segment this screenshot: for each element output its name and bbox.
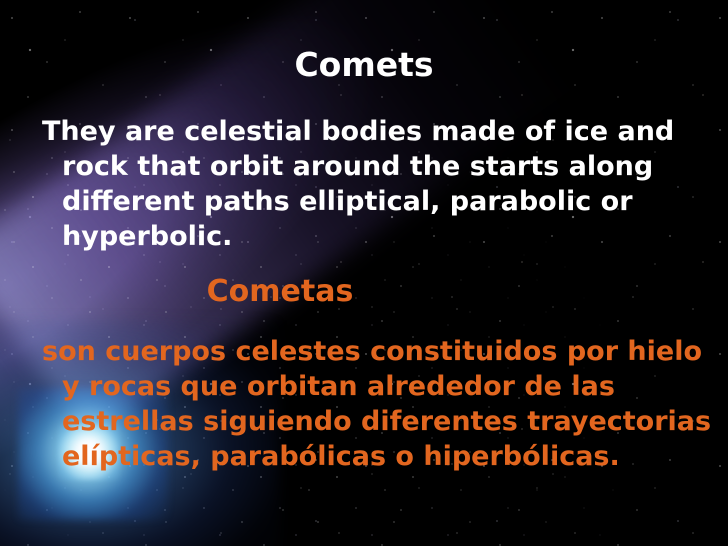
presentation-slide: Comets They are celestial bodies made of… — [0, 0, 728, 546]
slide-subtitle-spanish: Cometas — [0, 276, 560, 308]
slide-body-english: They are celestial bodies made of ice an… — [42, 114, 714, 254]
slide-content: Comets They are celestial bodies made of… — [0, 0, 728, 546]
slide-body-spanish: son cuerpos celestes constituidos por hi… — [42, 334, 714, 474]
slide-title: Comets — [0, 48, 728, 83]
